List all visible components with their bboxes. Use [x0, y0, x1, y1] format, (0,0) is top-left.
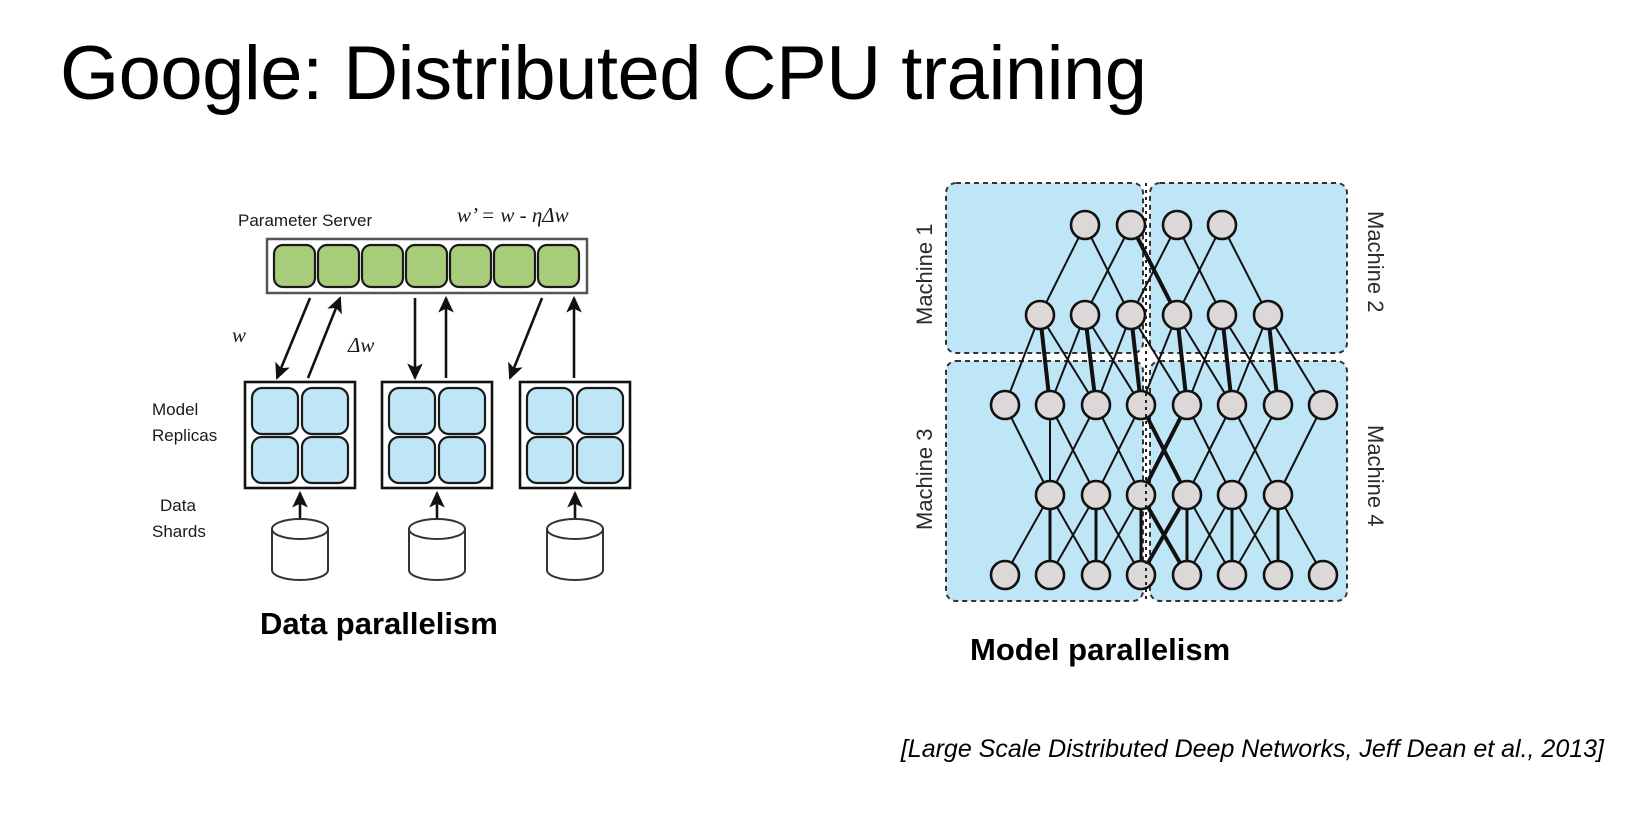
replica-cell — [439, 437, 485, 483]
network-node — [1082, 561, 1110, 589]
network-node — [1082, 391, 1110, 419]
network-node — [1071, 211, 1099, 239]
parameter-shard — [362, 245, 403, 287]
network-node — [1117, 301, 1145, 329]
parameter-shard — [318, 245, 359, 287]
network-node — [1036, 481, 1064, 509]
replica-cell — [527, 388, 573, 434]
network-node — [1036, 391, 1064, 419]
model-replicas-label-line1: Model — [152, 400, 198, 419]
network-node — [1309, 561, 1337, 589]
data-parallelism-diagram: Parameter Server w’ = w - ηΔw w Δw Model… — [150, 182, 690, 572]
machine-3-label: Machine 3 — [912, 428, 937, 530]
network-node — [991, 391, 1019, 419]
parameter-shard — [494, 245, 535, 287]
network-node — [1082, 481, 1110, 509]
machine-1-label: Machine 1 — [912, 223, 937, 325]
network-node — [1127, 481, 1155, 509]
citation-text: [Large Scale Distributed Deep Networks, … — [654, 735, 1604, 764]
replica-cell — [577, 388, 623, 434]
arrow-params-down-3 — [510, 298, 542, 378]
replica-cell — [302, 437, 348, 483]
model-replica — [245, 382, 355, 488]
parameter-server-label: Parameter Server — [238, 211, 372, 230]
parameter-shard — [406, 245, 447, 287]
machine-2-label: Machine 2 — [1363, 211, 1388, 313]
model-parallelism-diagram: Machine 1 Machine 2 Machine 3 Machine 4 — [900, 175, 1400, 610]
model-replica — [520, 382, 630, 488]
caption-model-parallelism: Model parallelism — [970, 632, 1230, 668]
parameter-shard — [274, 245, 315, 287]
gradient-arrow-label: Δw — [347, 333, 374, 357]
network-node — [1218, 481, 1246, 509]
network-node — [1208, 301, 1236, 329]
network-node — [1026, 301, 1054, 329]
network-node — [1117, 211, 1145, 239]
network-node — [1264, 391, 1292, 419]
data-shards-label-line2: Shards — [152, 522, 206, 541]
network-node — [1254, 301, 1282, 329]
parameter-shard-group — [274, 245, 579, 287]
caption-data-parallelism: Data parallelism — [260, 606, 498, 642]
replica-cell — [252, 388, 298, 434]
replica-cell — [577, 437, 623, 483]
data-shard-cylinder — [547, 519, 603, 580]
data-shards-label-line1: Data — [160, 496, 196, 515]
weights-arrow-label: w — [232, 323, 246, 347]
network-node — [1218, 391, 1246, 419]
update-formula: w’ = w - ηΔw — [457, 203, 569, 227]
data-shard-cylinder — [409, 519, 465, 580]
network-node — [991, 561, 1019, 589]
replica-cell — [439, 388, 485, 434]
network-node — [1127, 391, 1155, 419]
network-node — [1309, 391, 1337, 419]
network-node — [1264, 561, 1292, 589]
data-shard-cylinder — [272, 519, 328, 580]
network-node — [1218, 561, 1246, 589]
replica-cell — [302, 388, 348, 434]
network-node — [1173, 391, 1201, 419]
model-replica — [382, 382, 492, 488]
network-node — [1163, 301, 1191, 329]
replica-cell — [527, 437, 573, 483]
network-node — [1036, 561, 1064, 589]
arrow-params-down-1 — [277, 298, 310, 378]
arrow-grad-up-1 — [308, 298, 340, 378]
network-node — [1264, 481, 1292, 509]
page-title: Google: Distributed CPU training — [60, 36, 1147, 112]
network-node — [1127, 561, 1155, 589]
network-node — [1163, 211, 1191, 239]
parameter-shard — [538, 245, 579, 287]
replica-cell — [389, 388, 435, 434]
parameter-shard — [450, 245, 491, 287]
machine-4-label: Machine 4 — [1363, 425, 1388, 527]
replica-cell — [252, 437, 298, 483]
network-node — [1208, 211, 1236, 239]
network-node — [1173, 561, 1201, 589]
replica-cell — [389, 437, 435, 483]
network-node — [1071, 301, 1099, 329]
network-node — [1173, 481, 1201, 509]
model-replicas-label-line2: Replicas — [152, 426, 217, 445]
